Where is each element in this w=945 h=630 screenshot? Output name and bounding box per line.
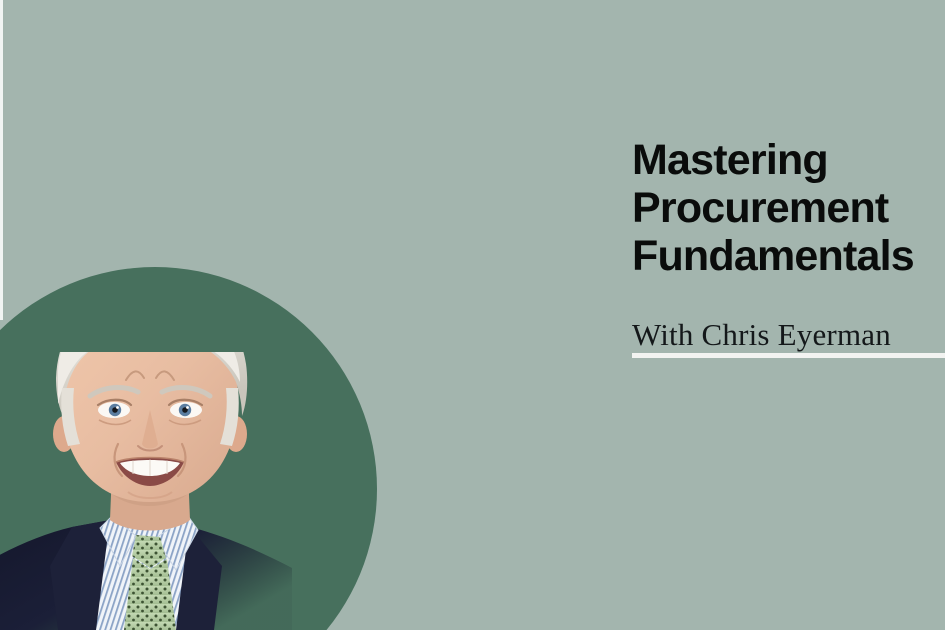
left-edge-accent-strip bbox=[0, 0, 3, 320]
speaker-portrait-photo bbox=[0, 352, 300, 630]
title-line-1: Mastering bbox=[632, 136, 945, 184]
title-line-3: Fundamentals bbox=[632, 232, 945, 280]
speaker-subtitle: With Chris Eyerman bbox=[632, 317, 945, 353]
presentation-slide: Mastering Procurement Fundamentals With … bbox=[0, 0, 945, 630]
title-divider-rule bbox=[632, 353, 945, 358]
page-title: Mastering Procurement Fundamentals bbox=[632, 136, 945, 280]
slide-text-column: Mastering Procurement Fundamentals With … bbox=[632, 136, 945, 353]
title-line-2: Procurement bbox=[632, 184, 945, 232]
head-and-face bbox=[53, 352, 247, 502]
